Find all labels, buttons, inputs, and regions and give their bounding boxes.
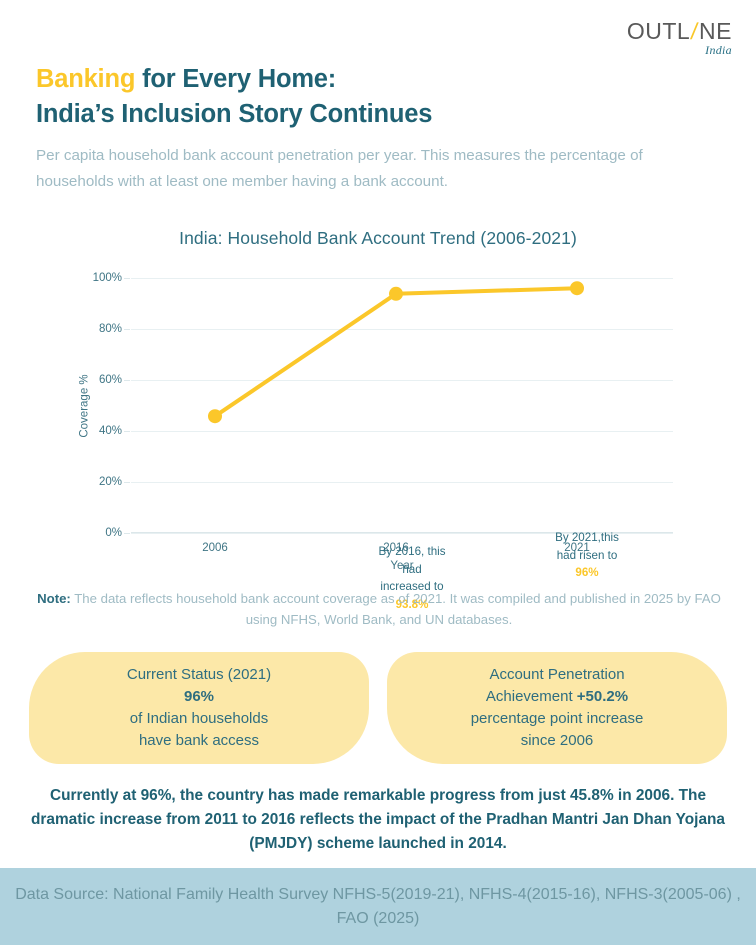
headline-heading: Banking for Every Home: India’s Inclusio… [36,62,636,132]
card2-title: Account Penetration [489,664,624,686]
annotation-2021-value: 96% [575,566,598,579]
headline-rest: for Every Home: [135,65,336,93]
stat-card-account-penetration: Account Penetration Achievement +50.2% p… [387,652,727,764]
y-tick-mark [124,380,130,381]
card2-line2-prefix: Achievement [486,688,577,705]
headline-line-two: India’s Inclusion Story Continues [36,100,432,128]
chart-annotation-2021: By 2021,this had risen to 96% [512,529,662,582]
chart-line-series [131,278,673,533]
y-tick-mark [124,533,130,534]
annotation-2021-line1: By 2021,this [555,531,619,544]
series-line [215,288,577,416]
y-tick-label: 40% [99,425,122,437]
annotation-2016-line2: had [402,563,421,576]
data-point-2016[interactable] [389,287,403,301]
chart-y-axis-label: Coverage % [79,374,91,437]
card1-line4: have bank access [139,730,259,752]
note-body: The data reflects household bank account… [71,591,721,627]
annotation-2016-line1: By 2016, this [378,545,445,558]
stat-card-current-status: Current Status (2021) 96% of Indian hous… [29,652,369,764]
summary-paragraph: Currently at 96%, the country has made r… [22,784,734,856]
logo-text-right: NE [699,18,732,44]
y-tick-mark [124,431,130,432]
card1-line3: of Indian households [130,708,268,730]
data-point-2021[interactable] [570,281,584,295]
card2-line3: percentage point increase [471,708,644,730]
x-tick-label: 2006 [202,542,228,554]
chart-plot-area: 100%80%60%40%20%0% 200620162021 Coverage… [131,278,673,533]
card2-line4: since 2006 [521,730,594,752]
card1-value: 96% [184,688,214,705]
card2-value: +50.2% [577,688,628,705]
y-tick-label: 100% [93,272,122,284]
page-title: Banking for Every Home: India’s Inclusio… [36,62,636,132]
note-text: Note: The data reflects household bank a… [34,588,724,631]
y-tick-label: 60% [99,374,122,386]
chart-title: India: Household Bank Account Trend (200… [0,228,756,249]
stat-cards: Current Status (2021) 96% of Indian hous… [29,652,727,764]
logo-subtitle: India [627,44,732,56]
annotation-2021-line2: had risen to [557,549,618,562]
data-source-text: Data Source: National Family Health Surv… [0,883,756,931]
infographic-page: OUTL/NE India Banking for Every Home: In… [0,0,756,945]
note-label: Note: [37,591,71,606]
headline-accent-word: Banking [36,65,135,93]
y-tick-mark [124,278,130,279]
chart-container: India: Household Bank Account Trend (200… [0,228,756,576]
y-tick-label: 80% [99,323,122,335]
page-subtitle: Per capita household bank account penetr… [36,143,676,194]
outline-india-logo: OUTL/NE India [627,20,732,56]
y-tick-mark [124,482,130,483]
card1-title: Current Status (2021) [127,664,271,686]
data-point-2006[interactable] [208,409,222,423]
y-tick-label: 0% [105,527,122,539]
logo-wordmark: OUTL/NE [627,20,732,43]
y-tick-mark [124,329,130,330]
data-source-footer: Data Source: National Family Health Surv… [0,868,756,945]
y-tick-label: 20% [99,476,122,488]
logo-text-left: OUTL [627,18,690,44]
